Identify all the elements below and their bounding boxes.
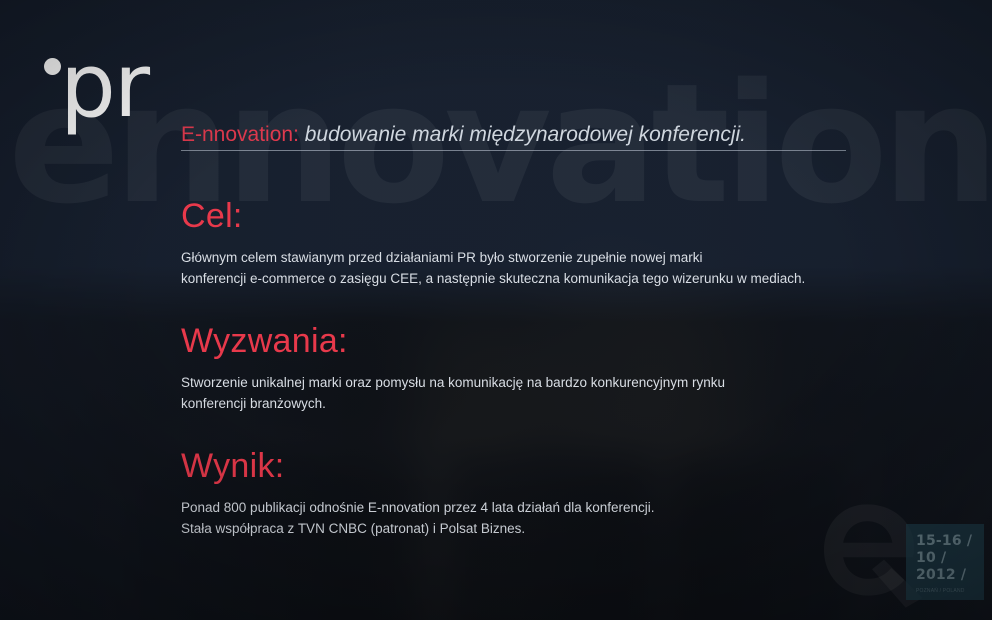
section-body: Głównym celem stawianym przed działaniam…	[181, 248, 941, 290]
slide-headline: E-nnovation: budowanie marki międzynarod…	[181, 122, 846, 147]
body-line: konferencji branżowych.	[181, 394, 941, 415]
event-date-badge: 15-16 / 10 / 2012 / POZNAŃ / POLAND	[906, 524, 984, 600]
headline-brand: E-nnovation:	[181, 123, 299, 146]
section-wynik: Wynik: Ponad 800 publikacji odnośnie E-n…	[181, 447, 941, 540]
badge-date-day: 15-16 /	[916, 533, 984, 550]
section-body: Stworzenie unikalnej marki oraz pomysłu …	[181, 373, 941, 415]
slide-content: E-nnovation: budowanie marki międzynarod…	[181, 0, 971, 620]
badge-date-month: 10 /	[916, 550, 984, 567]
section-body: Ponad 800 publikacji odnośnie E-nnovatio…	[181, 498, 941, 540]
section-wyzwania: Wyzwania: Stworzenie unikalnej marki ora…	[181, 322, 941, 415]
logo-dot-icon	[44, 58, 61, 75]
badge-location: POZNAŃ / POLAND	[916, 588, 984, 594]
headline-subtitle: budowanie marki międzynarodowej konferen…	[299, 123, 746, 146]
body-line: Głównym celem stawianym przed działaniam…	[181, 248, 941, 269]
body-line: Stała współpraca z TVN CNBC (patronat) i…	[181, 519, 941, 540]
pr-logo: pr	[40, 48, 170, 128]
logo-wordmark: pr	[60, 42, 148, 130]
slide-canvas: ennovation pr E-nnovation: budowanie mar…	[0, 0, 992, 620]
section-title: Wynik:	[181, 447, 941, 486]
body-line: Stworzenie unikalnej marki oraz pomysłu …	[181, 373, 941, 394]
body-line: Ponad 800 publikacji odnośnie E-nnovatio…	[181, 498, 941, 519]
body-line: konferencji e-commerce o zasięgu CEE, a …	[181, 269, 941, 290]
section-title: Cel:	[181, 197, 941, 236]
section-title: Wyzwania:	[181, 322, 941, 361]
badge-date-year: 2012 /	[916, 567, 984, 584]
headline-underline	[181, 150, 846, 151]
section-cel: Cel: Głównym celem stawianym przed dział…	[181, 197, 941, 290]
